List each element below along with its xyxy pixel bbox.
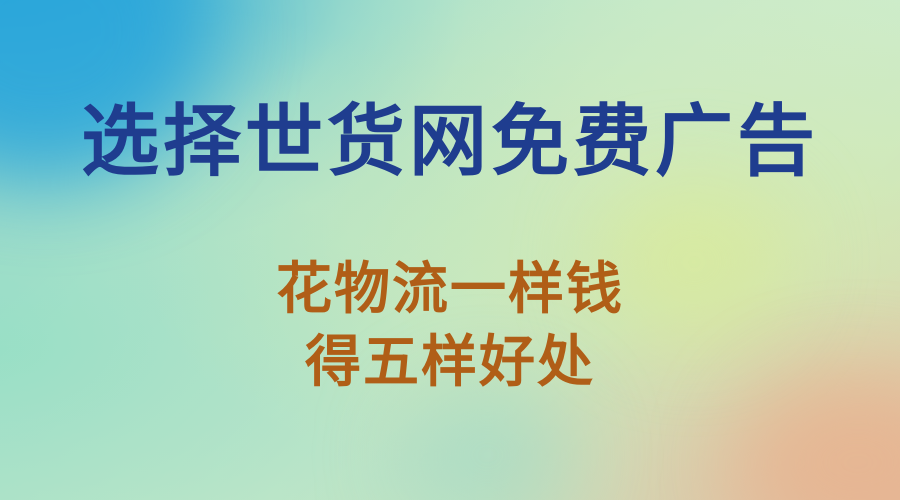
banner-subtitle-line-2: 得五样好处 <box>0 325 900 398</box>
banner-headline: 选择世货网免费广告 <box>0 100 900 182</box>
banner-content: 选择世货网免费广告 花物流一样钱 得五样好处 <box>0 0 900 500</box>
banner-subtitle-line-1: 花物流一样钱 <box>0 252 900 325</box>
banner-subtitle-block: 花物流一样钱 得五样好处 <box>0 252 900 398</box>
promo-banner: 选择世货网免费广告 花物流一样钱 得五样好处 <box>0 0 900 500</box>
